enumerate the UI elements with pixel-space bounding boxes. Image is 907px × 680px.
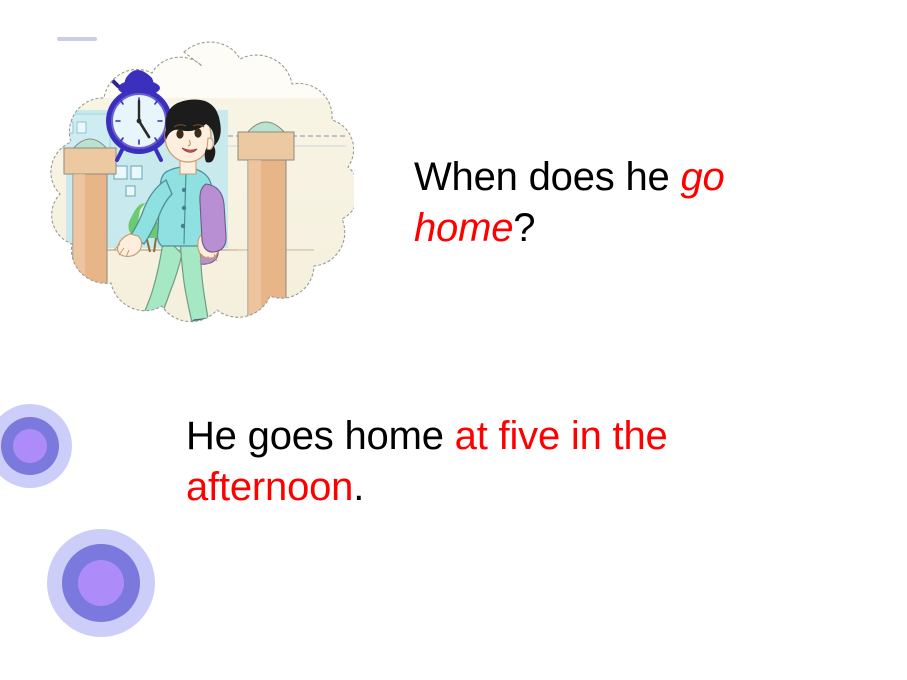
bullet-ring-large-core (78, 560, 124, 606)
paper-smudge (57, 37, 97, 41)
bullet-ring-small-middle (1, 417, 59, 475)
question-suffix: ? (513, 206, 535, 250)
answer-plain-prefix: He goes home (186, 414, 455, 458)
bullet-ring-small (0, 404, 72, 488)
question-plain-prefix: When does he (414, 155, 680, 199)
bullet-ring-large (47, 529, 155, 637)
question-text: When does he go home? (414, 152, 834, 254)
answer-suffix: . (353, 465, 364, 509)
bullet-ring-small-core (13, 429, 47, 463)
answer-text: He goes home at five in the afternoon. (186, 411, 826, 513)
bullet-ring-large-middle (62, 544, 140, 622)
school-gate-illustration (14, 38, 354, 384)
